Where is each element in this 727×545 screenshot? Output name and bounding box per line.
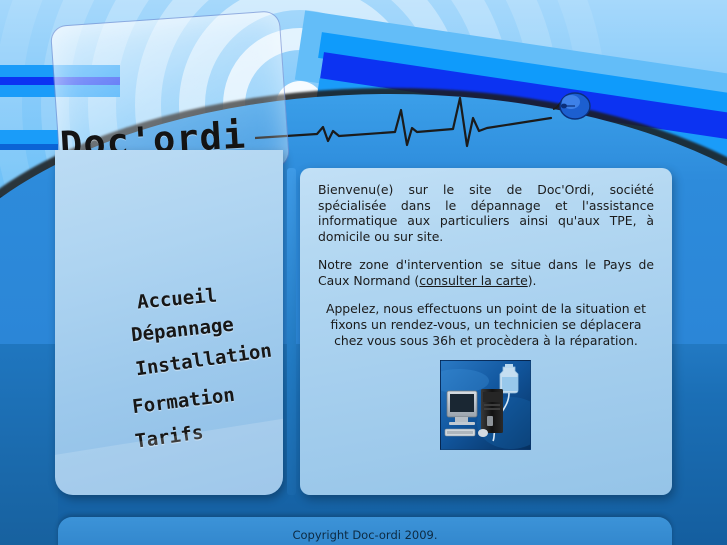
sidebar-item-tarifs[interactable]: Tarifs bbox=[134, 421, 205, 452]
computer-iv-drip-image bbox=[440, 360, 531, 450]
sidebar-item-accueil[interactable]: Accueil bbox=[136, 285, 218, 314]
sidebar-panel: Accueil Dépannage Installation Formation… bbox=[55, 150, 283, 495]
content-panel: Bienvenu(e) sur le site de Doc'Ordi, soc… bbox=[300, 168, 672, 495]
footer-panel: Copyright Doc-ordi 2009. bbox=[58, 517, 672, 545]
left-band-5 bbox=[0, 144, 58, 150]
left-band-4 bbox=[0, 130, 58, 144]
zone-paragraph: Notre zone d'intervention se situe dans … bbox=[318, 257, 654, 288]
copyright-text: Copyright Doc-ordi 2009. bbox=[58, 528, 672, 542]
intro-text: Bienvenu(e) sur le site de Doc'Ordi, soc… bbox=[318, 182, 654, 244]
computer-mouse-icon bbox=[551, 91, 593, 125]
page-root: Doc'ordi Accueil Dépannage Installation … bbox=[0, 0, 727, 545]
content-body: Bienvenu(e) sur le site de Doc'Ordi, soc… bbox=[300, 168, 672, 372]
cta-text: Appelez, nous effectuons un point de la … bbox=[326, 301, 646, 348]
panel-divider-rail bbox=[287, 168, 296, 495]
call-to-action-paragraph: Appelez, nous effectuons un point de la … bbox=[318, 301, 654, 349]
zone-text-after: ). bbox=[528, 273, 537, 288]
sidebar-item-depannage[interactable]: Dépannage bbox=[130, 314, 235, 347]
consulter-la-carte-link[interactable]: consulter la carte bbox=[419, 273, 527, 288]
sidebar-item-formation[interactable]: Formation bbox=[131, 384, 236, 418]
sidebar-item-installation[interactable]: Installation bbox=[134, 340, 273, 381]
main-navigation: Accueil Dépannage Installation Formation… bbox=[55, 150, 283, 495]
intro-paragraph: Bienvenu(e) sur le site de Doc'Ordi, soc… bbox=[318, 182, 654, 244]
